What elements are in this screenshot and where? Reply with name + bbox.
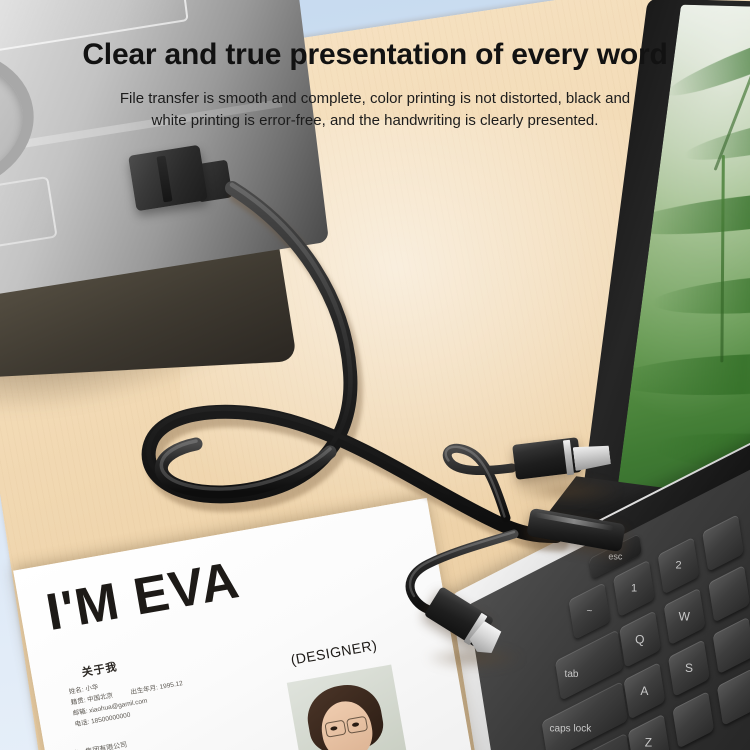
key-x[interactable] [672, 691, 714, 749]
key-2[interactable]: 2 [658, 537, 700, 595]
page-subtitle: File transfer is smooth and complete, co… [50, 88, 700, 132]
resume-role: (DESIGNER) [289, 637, 378, 668]
key-caps-lock-label: caps lock [549, 723, 591, 734]
resume-title: I'M EVA [42, 550, 244, 643]
key-1[interactable]: 1 [613, 560, 655, 618]
key-q[interactable]: Q [619, 610, 661, 668]
resume-portrait-photo [287, 665, 413, 750]
key-z-label: Z [645, 735, 652, 749]
key-w[interactable]: W [664, 588, 706, 646]
key-tilde-label: ~ [586, 606, 592, 617]
key-1-label: 1 [631, 582, 637, 594]
key-q-label: Q [635, 632, 644, 646]
page-subtitle-line-1: File transfer is smooth and complete, co… [120, 90, 630, 107]
key-3[interactable] [702, 514, 744, 572]
key-w-label: W [679, 609, 690, 623]
key-z[interactable]: Z [628, 714, 670, 750]
product-promo-image: esc ~ 1 2 tab Q W caps lock A [0, 0, 750, 750]
key-tab-label: tab [564, 669, 578, 680]
resume-company-line: 第一集团有限公司 [71, 740, 128, 750]
resume-section-heading: 关于我 [80, 658, 118, 680]
key-s[interactable]: S [668, 639, 710, 697]
micro-usb-adapter-shadow [512, 478, 622, 504]
key-esc-label: esc [608, 551, 622, 561]
lightning-adapter-shadow [424, 646, 524, 670]
key-e[interactable] [708, 565, 750, 623]
page-title: Clear and true presentation of every wor… [0, 38, 750, 72]
key-s-label: S [685, 661, 693, 675]
key-a-label: A [640, 684, 648, 698]
resume-field-2: 出生年月: 1995.12 [130, 678, 184, 698]
key-2-label: 2 [675, 560, 681, 572]
key-c[interactable] [717, 668, 750, 726]
key-tilde[interactable]: ~ [568, 582, 610, 640]
page-subtitle-line-2: white printing is error-free, and the ha… [152, 112, 599, 129]
key-a[interactable]: A [623, 662, 665, 720]
key-d[interactable] [713, 617, 750, 675]
